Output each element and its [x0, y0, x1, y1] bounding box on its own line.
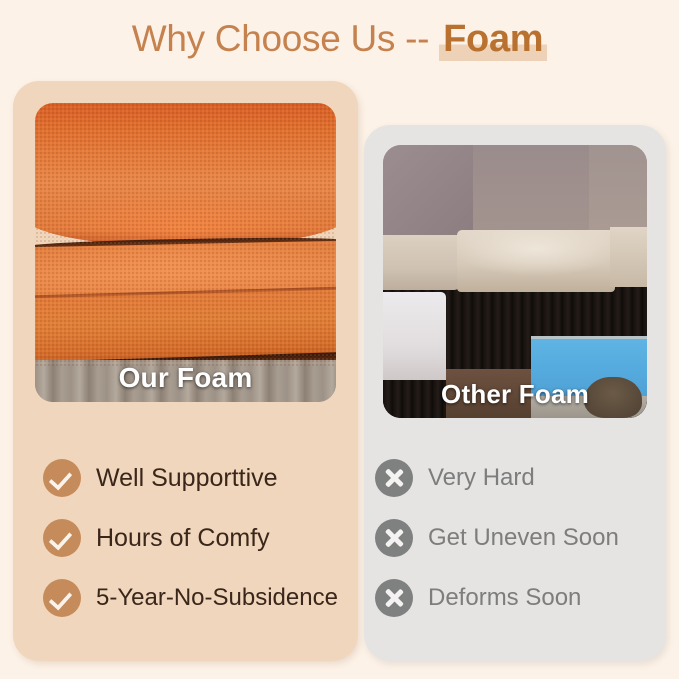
comparison-panel-other: Other Foam Very Hard Get Uneven Soon Def… [364, 125, 666, 661]
photo-caption-other-foam: Other Foam [383, 379, 647, 418]
photo-layer-back-cushion-middle [473, 145, 590, 238]
product-photo-other-foam: Other Foam [383, 145, 647, 418]
photo-layer-seat-cushion-right [610, 227, 647, 287]
feature-row-hours-of-comfy: Hours of Comfy [13, 508, 358, 568]
feature-row-deforms-soon: Deforms Soon [364, 568, 666, 628]
page-title-highlight-part: Foam [439, 18, 547, 61]
page-title: Why Choose Us -- Foam [0, 18, 679, 61]
photo-layer-seat-cushion-main [457, 230, 615, 293]
photo-layer-backrest-cushion [35, 103, 336, 247]
cross-circle-icon [375, 459, 413, 497]
photo-caption-our-foam: Our Foam [35, 362, 336, 402]
feature-list-other: Very Hard Get Uneven Soon Deforms Soon [364, 448, 666, 628]
feature-list-ours: Well Supporttive Hours of Comfy 5-Year-N… [13, 448, 358, 628]
feature-row-no-subsidence: 5-Year-No-Subsidence [13, 568, 358, 628]
cross-circle-icon [375, 519, 413, 557]
feature-label: Well Supporttive [96, 466, 278, 491]
check-circle-icon [43, 519, 81, 557]
photo-layer-back-cushion-left [383, 145, 474, 238]
cross-circle-icon [375, 579, 413, 617]
feature-row-get-uneven-soon: Get Uneven Soon [364, 508, 666, 568]
comparison-panel-ours: Our Foam Well Supporttive Hours of Comfy… [13, 81, 358, 661]
feature-row-very-hard: Very Hard [364, 448, 666, 508]
check-circle-icon [43, 579, 81, 617]
feature-label: Deforms Soon [428, 586, 581, 610]
photo-layer-seat-cushion-left [383, 235, 460, 290]
feature-label: Very Hard [428, 466, 535, 490]
photo-layer-white-cushion-foreground [383, 292, 446, 379]
feature-label: Hours of Comfy [96, 526, 270, 551]
check-circle-icon [43, 459, 81, 497]
page-title-plain-part: Why Choose Us -- [132, 18, 439, 59]
feature-label: 5-Year-No-Subsidence [96, 586, 338, 610]
product-photo-our-foam: Our Foam [35, 103, 336, 402]
feature-label: Get Uneven Soon [428, 526, 619, 550]
photo-layer-back-cushion-right [589, 145, 647, 238]
feature-row-well-supportive: Well Supporttive [13, 448, 358, 508]
